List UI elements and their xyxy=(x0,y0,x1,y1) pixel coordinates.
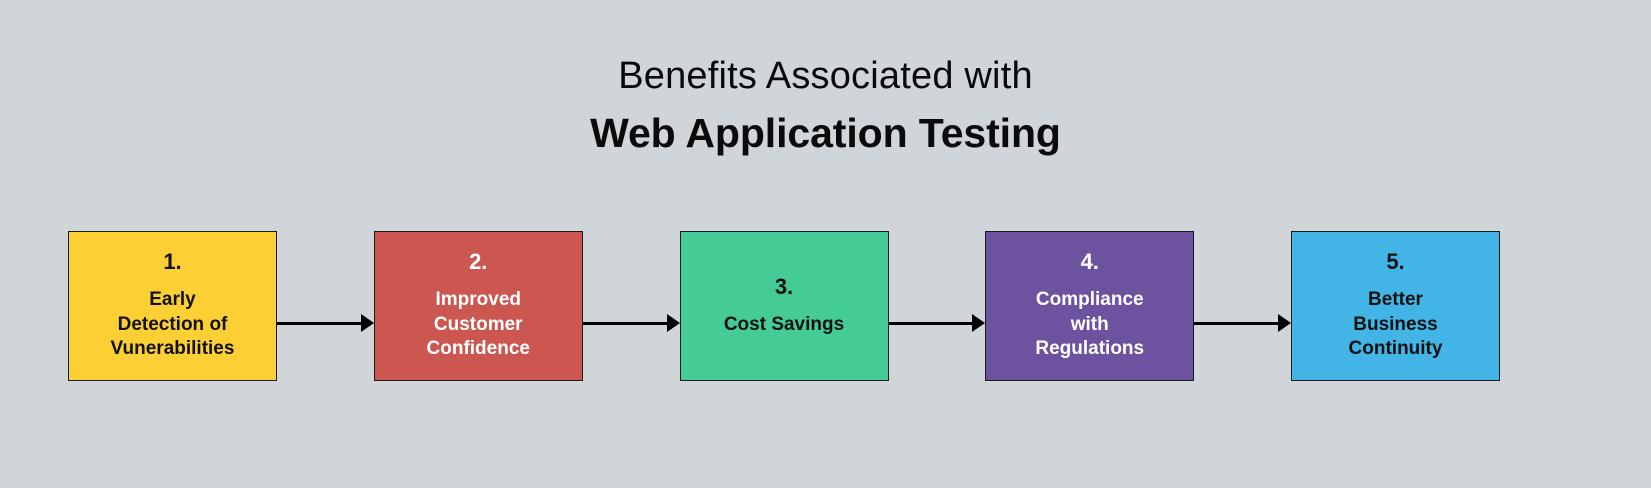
flow-step-2: 2. Improved Customer Confidence xyxy=(374,231,583,381)
arrow-head-icon xyxy=(1278,314,1291,332)
arrow-line-icon xyxy=(1194,322,1282,325)
arrow-head-icon xyxy=(972,314,985,332)
arrow-line-icon xyxy=(583,322,671,325)
arrow-line-icon xyxy=(889,322,977,325)
flow-connector-3-to-4 xyxy=(889,231,986,381)
flow-connector-2-to-3 xyxy=(583,231,680,381)
flow-step-5: 5. Better Business Continuity xyxy=(1291,231,1500,381)
benefits-flow-diagram: 1. Early Detection of Vunerabilities 2. … xyxy=(68,231,1500,381)
flow-step-3: 3. Cost Savings xyxy=(680,231,889,381)
flow-connector-1-to-2 xyxy=(277,231,374,381)
flow-step-2-label: Improved Customer Confidence xyxy=(419,288,538,362)
flow-step-5-number: 5. xyxy=(1386,250,1404,274)
flow-step-3-label: Cost Savings xyxy=(716,313,852,338)
flow-step-2-number: 2. xyxy=(469,250,487,274)
page-title-line-1: Benefits Associated with xyxy=(0,52,1651,101)
flow-step-4-label: Compliance with Regulations xyxy=(1027,288,1152,362)
arrow-line-icon xyxy=(277,322,365,325)
flow-step-1-label: Early Detection of Vunerabilities xyxy=(103,288,243,362)
arrow-head-icon xyxy=(667,314,680,332)
flow-step-3-number: 3. xyxy=(775,275,793,299)
flow-step-1: 1. Early Detection of Vunerabilities xyxy=(68,231,277,381)
flow-step-1-number: 1. xyxy=(163,250,181,274)
page-title: Benefits Associated with Web Application… xyxy=(0,52,1651,159)
arrow-head-icon xyxy=(361,314,374,332)
flow-step-5-label: Better Business Continuity xyxy=(1341,288,1451,362)
flow-step-4-number: 4. xyxy=(1081,250,1099,274)
page-title-line-2: Web Application Testing xyxy=(0,107,1651,159)
flow-connector-4-to-5 xyxy=(1194,231,1291,381)
flow-step-4: 4. Compliance with Regulations xyxy=(985,231,1194,381)
